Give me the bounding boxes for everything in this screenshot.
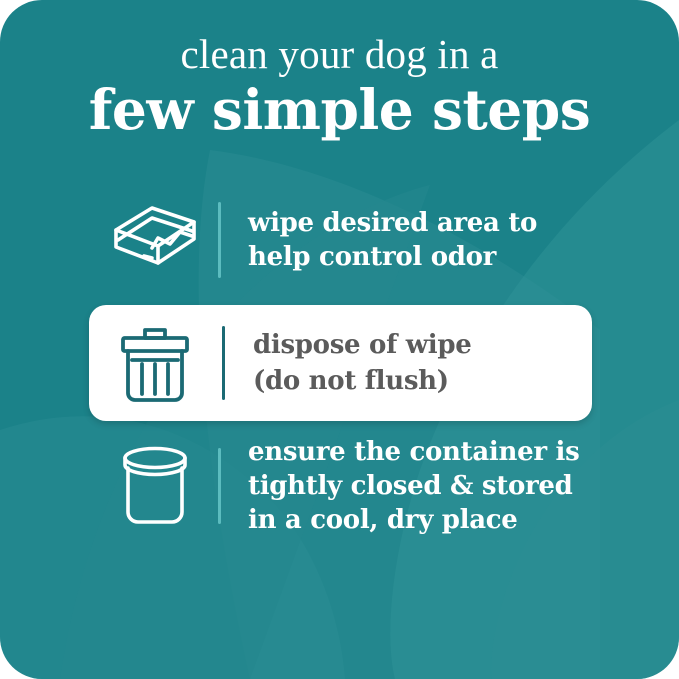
- step-divider: [218, 202, 221, 278]
- step-text-line: wipe desired area to: [248, 206, 537, 240]
- step-item-wipe: wipe desired area to help control odor: [0, 185, 679, 295]
- step-item-dispose: dispose of wipe (do not flush): [89, 305, 592, 421]
- step-text-line: help control odor: [248, 240, 537, 274]
- headline-line-1: clean your dog in a: [0, 30, 679, 78]
- headline-line-2: few simple steps: [0, 80, 679, 140]
- instruction-poster: clean your dog in a few simple steps: [0, 0, 679, 679]
- stack-of-wipes-icon: [108, 197, 202, 283]
- step-text: ensure the container is tightly closed &…: [248, 435, 579, 537]
- step-divider: [222, 326, 225, 400]
- step-divider: [218, 448, 221, 524]
- step-text-line: dispose of wipe: [253, 327, 472, 363]
- step-text-line: tightly closed & stored: [248, 469, 579, 503]
- step-text: wipe desired area to help control odor: [248, 206, 537, 274]
- poster-headline: clean your dog in a few simple steps: [0, 30, 679, 140]
- steps-list: wipe desired area to help control odor: [0, 185, 679, 541]
- step-text-line: in a cool, dry place: [248, 503, 579, 537]
- step-item-store: ensure the container is tightly closed &…: [0, 431, 679, 541]
- trash-can-icon: [108, 320, 202, 406]
- step-text: dispose of wipe (do not flush): [253, 327, 472, 399]
- step-text-line: (do not flush): [253, 363, 472, 399]
- step-text-line: ensure the container is: [248, 435, 579, 469]
- container-tub-icon: [108, 443, 202, 529]
